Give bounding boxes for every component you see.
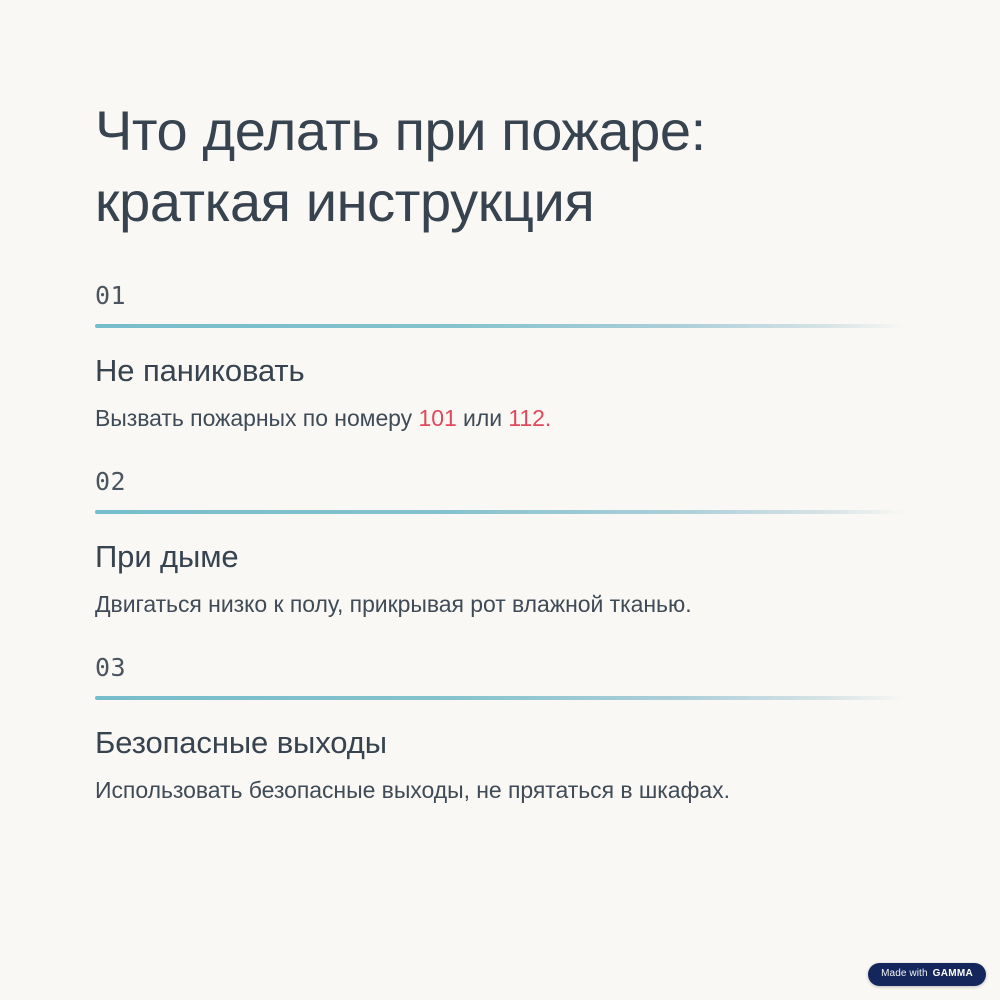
- slide-canvas: Что делать при пожаре:краткая инструкция…: [0, 0, 1000, 1000]
- step-divider-03: [95, 696, 907, 700]
- step-body-01-suffix: .: [545, 405, 551, 431]
- step-number-03: 03: [95, 655, 907, 696]
- step-heading-03: Безопасные выходы: [95, 724, 907, 761]
- emergency-number-secondary: 112: [508, 405, 545, 431]
- step-heading-01: Не паниковать: [95, 352, 907, 389]
- badge-prefix-label: Made with: [881, 969, 927, 979]
- page-title: Что делать при пожаре:краткая инструкция: [95, 96, 855, 237]
- steps-list: 01 Не паниковать Вызвать пожарных по ном…: [95, 283, 907, 807]
- step-body-01-prefix: Вызвать пожарных по номеру: [95, 405, 418, 431]
- step-item-03: 03 Безопасные выходы Использовать безопа…: [95, 655, 907, 807]
- badge-brand-label: GAMMA: [933, 969, 973, 979]
- step-divider-01: [95, 324, 907, 328]
- step-body-03: Использовать безопасные выходы, не прята…: [95, 775, 907, 807]
- made-with-gamma-badge[interactable]: Made with GAMMA: [868, 963, 986, 986]
- emergency-number-primary: 101: [418, 405, 456, 431]
- step-item-01: 01 Не паниковать Вызвать пожарных по ном…: [95, 283, 907, 435]
- page-title-line-2: краткая инструкция: [95, 170, 594, 233]
- page-title-line-1: Что делать при пожаре:: [95, 99, 706, 162]
- step-number-01: 01: [95, 283, 907, 324]
- step-body-01: Вызвать пожарных по номеру 101 или 112.: [95, 403, 907, 435]
- step-number-02: 02: [95, 469, 907, 510]
- title-block: Что делать при пожаре:краткая инструкция: [95, 96, 855, 237]
- step-heading-02: При дыме: [95, 538, 907, 575]
- step-divider-02: [95, 510, 907, 514]
- step-item-02: 02 При дыме Двигаться низко к полу, прик…: [95, 469, 907, 621]
- step-body-02: Двигаться низко к полу, прикрывая рот вл…: [95, 589, 907, 621]
- step-body-01-middle: или: [457, 405, 509, 431]
